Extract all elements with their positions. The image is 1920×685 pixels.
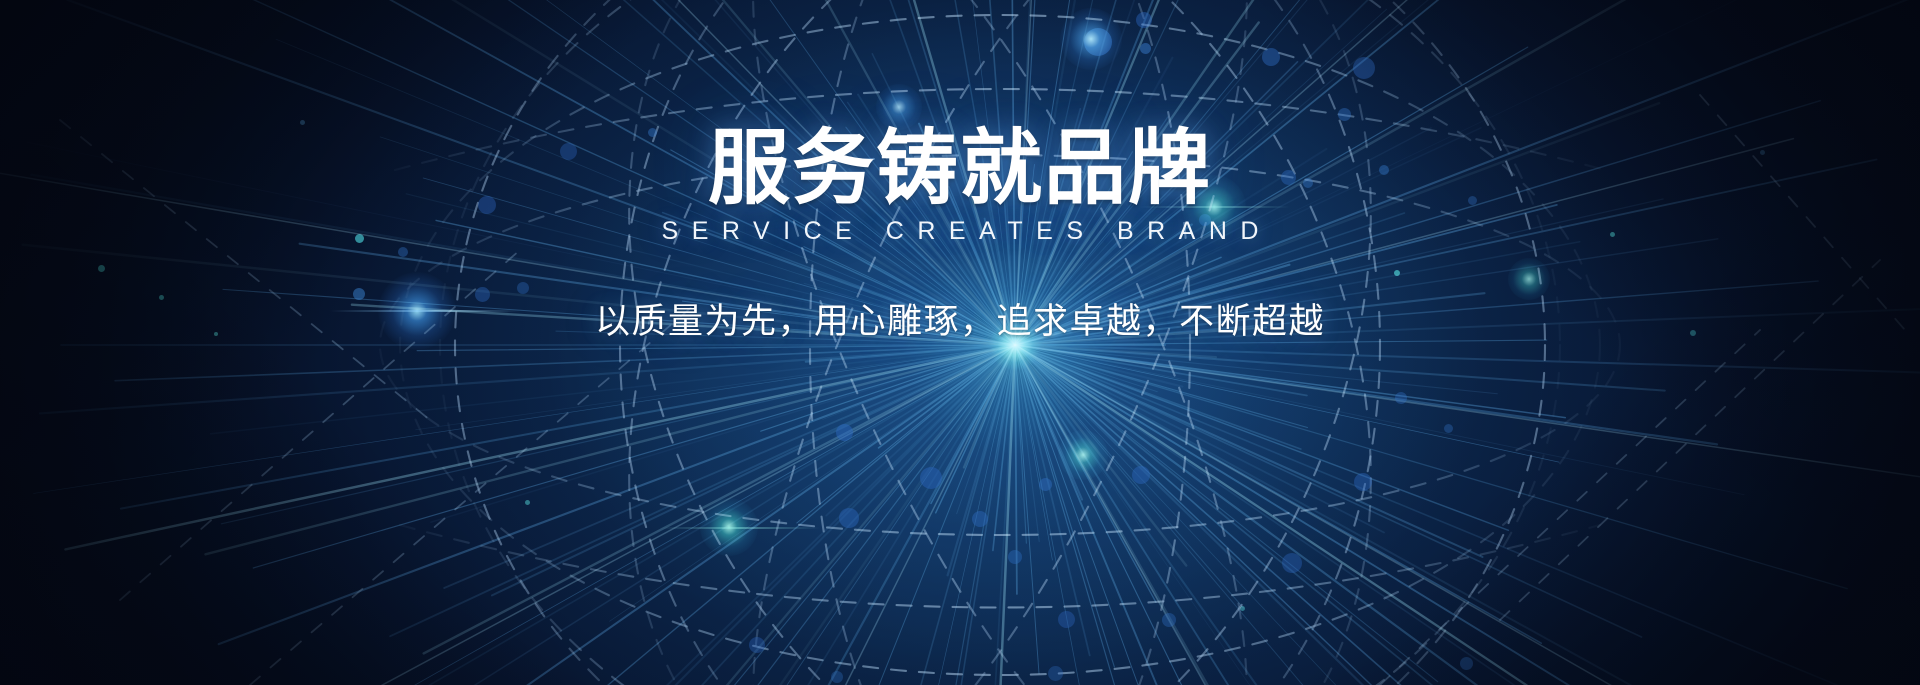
hero-banner: 服务铸就品牌 SERVICE CREATES BRAND 以质量为先，用心雕琢，… bbox=[0, 0, 1920, 685]
corner-shadow-overlay bbox=[0, 0, 1920, 685]
